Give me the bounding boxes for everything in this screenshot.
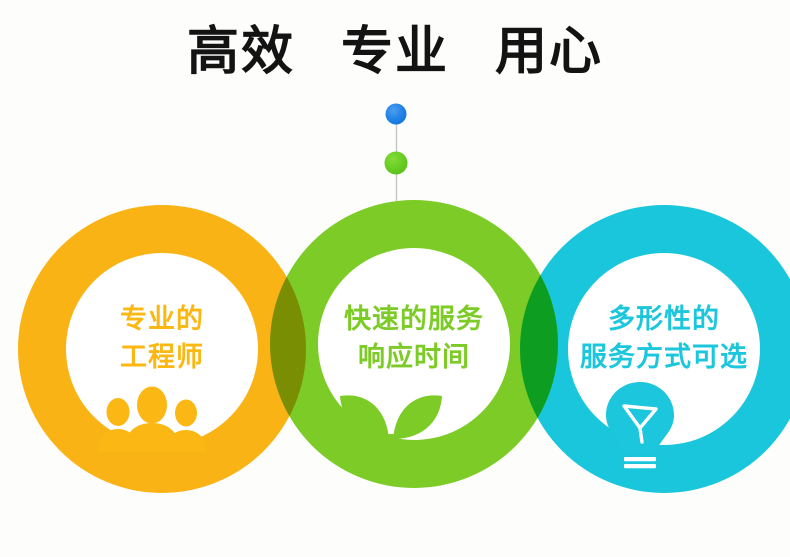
- circle-service-label: 多形性的 服务方式可选: [496, 300, 790, 377]
- people-group-icon: [96, 386, 208, 452]
- lightbulb-icon: [596, 380, 684, 472]
- sprout-plant-icon: [334, 384, 448, 472]
- venn-diagram: [0, 0, 790, 557]
- service-label-line1: 多形性的: [496, 300, 790, 338]
- service-label-line2: 服务方式可选: [496, 338, 790, 376]
- poster-canvas: 高效专业用心: [0, 0, 790, 557]
